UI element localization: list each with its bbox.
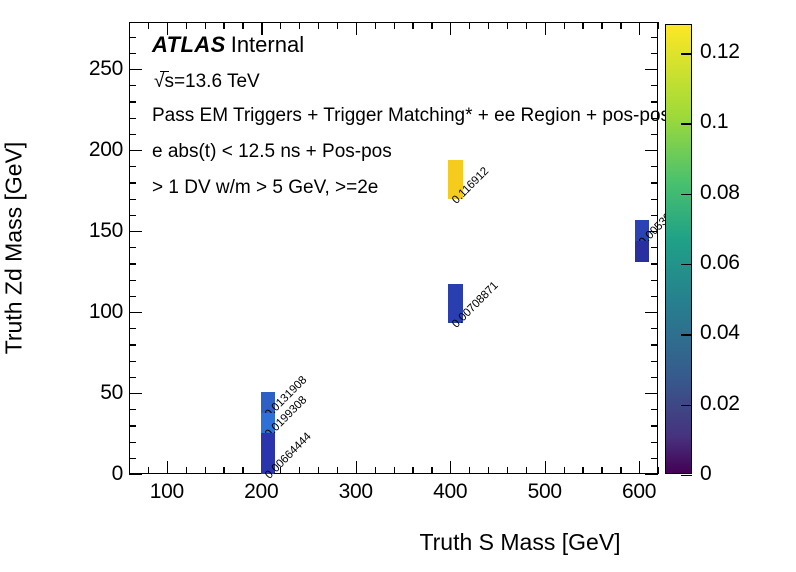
color-bar-tick-label: 0.04 [700,321,740,345]
annotation-block: ATLASInternal √s=13.6 TeV Pass EM Trigge… [152,34,672,197]
y-major-tick [129,393,142,394]
energy-text: s=13.6 TeV [164,71,259,92]
y-axis-title: Truth Zd Mass [GeV] [1,142,28,355]
sqrt-symbol: √ [152,72,164,91]
y-minor-tick [129,247,136,248]
y-minor-tick-right [651,328,658,329]
y-major-tick [129,69,142,70]
atlas-text: ATLAS [152,32,226,57]
y-tick-label: 200 [81,138,123,162]
color-bar-tick-label: 0.06 [700,251,740,275]
y-minor-tick-right [651,247,658,248]
atlas-label: ATLASInternal [152,34,672,56]
x-minor-tick-top [205,22,206,29]
y-tick-label: 150 [81,219,123,243]
y-tick-label: 250 [81,57,123,81]
y-major-tick-right [645,474,658,475]
color-bar-tick-label: 0.1 [700,110,728,134]
x-minor-tick [601,467,602,474]
x-minor-tick [318,467,319,474]
y-minor-tick-right [651,344,658,345]
x-minor-tick-top [658,22,659,29]
color-bar-tick [681,123,692,124]
y-minor-tick [129,101,136,102]
y-minor-tick [129,85,136,86]
plot-canvas: Truth Zd Mass [GeV] Truth S Mass [GeV] 1… [0,0,796,572]
x-minor-tick-top [242,22,243,29]
x-minor-tick [412,467,413,474]
x-minor-tick-top [148,22,149,29]
x-minor-tick-top [488,22,489,29]
x-minor-tick-top [412,22,413,29]
x-minor-tick-top [337,22,338,29]
x-minor-tick-top [186,22,187,29]
x-major-tick [545,461,546,474]
x-minor-tick-top [601,22,602,29]
x-minor-tick [582,467,583,474]
x-tick-label: 200 [244,480,278,504]
y-minor-tick [129,37,136,38]
x-minor-tick-top [375,22,376,29]
y-minor-tick-right [651,199,658,200]
y-minor-tick-right [651,296,658,297]
internal-text: Internal [231,32,304,57]
color-bar-tick [681,475,692,476]
y-major-tick [129,474,142,475]
x-tick-label: 300 [339,480,373,504]
x-minor-tick [431,467,432,474]
y-minor-tick [129,118,136,119]
color-bar-tick-label: 0.02 [700,392,740,416]
x-minor-tick [186,467,187,474]
x-minor-tick-top [280,22,281,29]
y-minor-tick [129,53,136,54]
x-minor-tick-top [620,22,621,29]
x-major-tick [639,461,640,474]
y-minor-tick [129,409,136,410]
energy-label: √s=13.6 TeV [152,72,672,91]
x-minor-tick [375,467,376,474]
x-tick-label: 400 [433,480,467,504]
x-minor-tick [242,467,243,474]
x-minor-tick [129,467,130,474]
x-minor-tick-top [469,22,470,29]
y-tick-label: 100 [81,300,123,324]
x-minor-tick-top [564,22,565,29]
y-minor-tick-right [651,361,658,362]
y-major-tick [129,150,142,151]
x-tick-label: 100 [150,480,184,504]
color-bar-tick-label: 0.12 [700,40,740,64]
y-tick-label: 50 [81,381,123,405]
x-tick-label: 500 [528,480,562,504]
color-bar-tick [681,264,692,265]
x-minor-tick [564,467,565,474]
x-minor-tick [223,467,224,474]
y-minor-tick [129,296,136,297]
x-minor-tick-top [129,22,130,29]
x-minor-tick [299,467,300,474]
y-minor-tick [129,199,136,200]
y-major-tick-right [645,393,658,394]
selection-label-3: > 1 DV w/m > 5 GeV, >=2e [152,178,672,197]
y-minor-tick [129,344,136,345]
x-minor-tick [469,467,470,474]
x-major-tick [167,461,168,474]
histogram-bin [635,241,649,262]
x-minor-tick-top [223,22,224,29]
y-minor-tick [129,280,136,281]
y-minor-tick [129,442,136,443]
x-minor-tick [148,467,149,474]
x-minor-tick [488,467,489,474]
y-minor-tick [129,377,136,378]
x-minor-tick [526,467,527,474]
color-bar-tick [681,405,692,406]
x-axis-title: Truth S Mass [GeV] [419,529,620,556]
y-minor-tick [129,458,136,459]
y-major-tick-right [645,312,658,313]
color-bar-tick [681,53,692,54]
y-minor-tick [129,215,136,216]
x-minor-tick [620,467,621,474]
x-minor-tick-top [318,22,319,29]
color-bar-tick [681,194,692,195]
color-bar-ticks [666,25,691,473]
x-minor-tick-top [526,22,527,29]
x-minor-tick-top [394,22,395,29]
y-minor-tick [129,166,136,167]
x-minor-tick-top [582,22,583,29]
x-major-tick [450,461,451,474]
x-minor-tick [394,467,395,474]
y-minor-tick-right [651,263,658,264]
y-minor-tick-right [651,280,658,281]
y-minor-tick-right [651,409,658,410]
y-minor-tick-right [651,442,658,443]
y-minor-tick [129,361,136,362]
x-minor-tick [507,467,508,474]
y-minor-tick-right [651,215,658,216]
color-bar-tick-label: 0 [700,462,711,486]
color-bar-tick-label: 0.08 [700,181,740,205]
y-minor-tick-right [651,458,658,459]
y-minor-tick [129,182,136,183]
x-minor-tick [205,467,206,474]
x-tick-label: 600 [622,480,656,504]
y-major-tick [129,312,142,313]
y-minor-tick [129,328,136,329]
y-minor-tick-right [651,425,658,426]
y-minor-tick-right [651,377,658,378]
y-minor-tick [129,263,136,264]
y-major-tick [129,231,142,232]
x-minor-tick [337,467,338,474]
x-minor-tick-top [299,22,300,29]
x-minor-tick-top [507,22,508,29]
x-minor-tick-top [431,22,432,29]
selection-label-2: e abs(t) < 12.5 ns + Pos-pos [152,142,672,161]
x-minor-tick [658,467,659,474]
y-minor-tick [129,425,136,426]
color-bar-tick [681,334,692,335]
y-minor-tick [129,134,136,135]
selection-label-1: Pass EM Triggers + Trigger Matching* + e… [152,106,672,125]
color-bar [665,24,692,474]
x-major-tick [356,461,357,474]
y-tick-label: 0 [81,462,123,486]
